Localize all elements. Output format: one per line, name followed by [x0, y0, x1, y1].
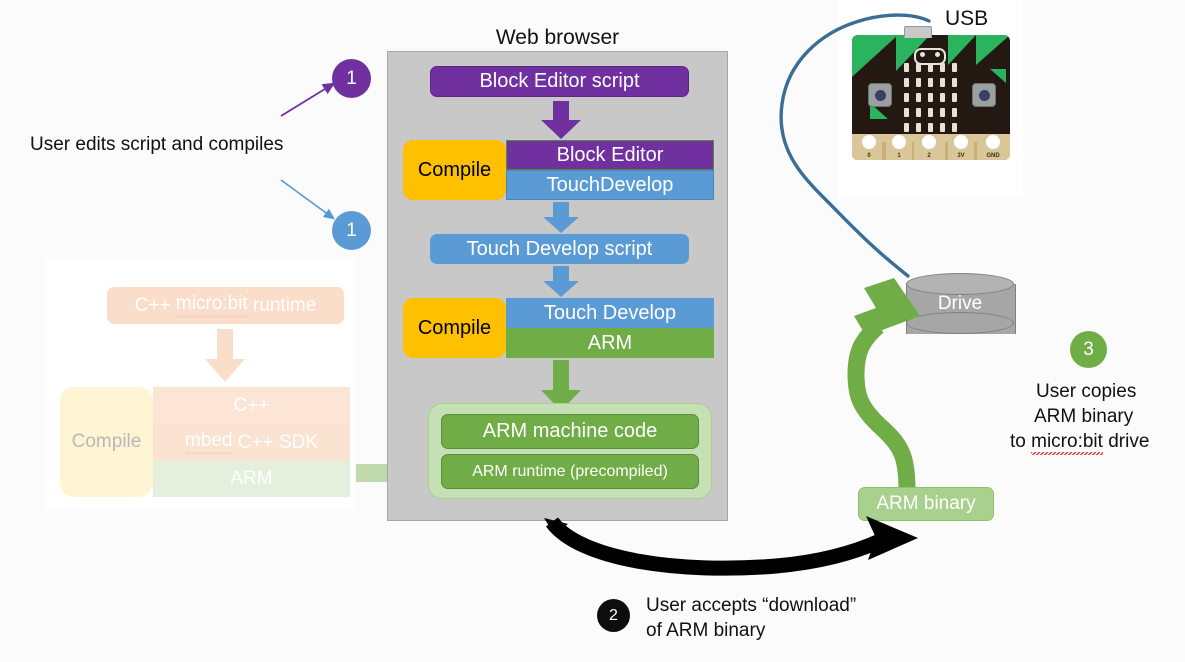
step-3-text-line-1: User copies — [1036, 379, 1136, 404]
step-3-badge: 3 — [1070, 331, 1107, 368]
arm-binary-label: ARM binary — [876, 493, 975, 515]
web-browser-title: Web browser — [387, 26, 728, 50]
compile-2-target-box: ARM — [506, 328, 714, 358]
board-green-triangle-6 — [990, 69, 1006, 83]
step-1-badge-purple-label: 1 — [346, 68, 357, 90]
legacy-row-mbed-misspelled: mbed — [185, 430, 233, 455]
compile-2-target-label: ARM — [588, 332, 632, 355]
board-green-triangle-1 — [852, 35, 898, 77]
touch-develop-down-arrow-icon-1 — [537, 202, 585, 234]
compile-block-1: Compile Block Editor TouchDevelop — [403, 140, 714, 200]
edge-pad-3v: 3V — [948, 134, 974, 160]
button-a-icon — [868, 83, 892, 107]
microbit-device-photo: 0 1 2 3V GND — [838, 0, 1023, 198]
block-editor-script-label: Block Editor script — [479, 70, 639, 93]
compile-1-source-label: Block Editor — [557, 144, 664, 167]
usb-port-icon — [904, 26, 932, 38]
edge-pad-1: 1 — [886, 134, 912, 160]
touch-develop-down-arrow-icon-2 — [537, 266, 585, 298]
compile-1-label-box: Compile — [403, 140, 506, 200]
step-3-text-line-3: to micro:bit drive — [1010, 429, 1149, 454]
usb-label: USB — [945, 7, 988, 31]
arm-runtime-label: ARM runtime (precompiled) — [472, 463, 668, 481]
cpp-runtime-label-tail: runtime — [248, 295, 317, 317]
step-2-badge-label: 2 — [609, 607, 618, 625]
compile-1-source-box: Block Editor — [506, 140, 714, 170]
edge-pad-0-label: 0 — [867, 152, 870, 160]
compile-1-target-box: TouchDevelop — [506, 170, 714, 200]
edge-pad-gnd-label: GND — [986, 152, 999, 160]
board-green-triangle-3 — [948, 35, 976, 65]
step-3-badge-label: 3 — [1083, 339, 1094, 361]
legacy-compile-label-box: Compile — [60, 387, 153, 497]
legacy-row-arm-label: ARM — [230, 468, 272, 490]
block-editor-script-box: Block Editor script — [430, 66, 689, 97]
step-3-misspelled-word: micro:bit — [1031, 431, 1103, 455]
edge-pad-2: 2 — [916, 134, 942, 160]
arm-runtime-box: ARM runtime (precompiled) — [441, 454, 699, 489]
cpp-runtime-label: C++ — [135, 295, 176, 317]
compile-2-source-box: Touch Develop — [506, 298, 714, 328]
legacy-row-mbed-tail: C++ SDK — [232, 432, 318, 454]
drive-top-ellipse — [906, 273, 1014, 295]
legacy-row-arm: ARM — [153, 461, 350, 497]
arm-binary-box: ARM binary — [858, 487, 994, 521]
cpp-runtime-misspelled-word: micro:bit — [176, 293, 248, 318]
edge-pad-0: 0 — [856, 134, 882, 160]
arm-machine-code-box: ARM machine code — [441, 414, 699, 449]
board-green-triangle-4 — [976, 35, 1010, 65]
drive-cylinder: Drive — [906, 273, 1014, 345]
step-1-badge-blue-label: 1 — [346, 220, 357, 242]
led-matrix — [904, 63, 958, 135]
legacy-row-cpp: C++ — [153, 387, 350, 424]
step-1-purple-connector-arrow-icon — [280, 78, 342, 118]
microbit-board: 0 1 2 3V GND — [852, 35, 1010, 160]
touch-develop-script-label: Touch Develop script — [467, 238, 653, 261]
step-1-blue-connector-arrow-icon — [280, 178, 342, 226]
step-2-text-line-1: User accepts “download” — [646, 593, 856, 618]
step-2-badge: 2 — [597, 599, 630, 632]
edge-pad-gnd: GND — [980, 134, 1006, 160]
step-2-text-line-2: of ARM binary — [646, 618, 765, 643]
diagram-canvas: C++ micro:bit runtime Compile C++ mbed C… — [0, 0, 1185, 662]
compile-2-label: Compile — [418, 317, 491, 340]
legacy-row-mbed: mbed C++ SDK — [153, 424, 350, 461]
legacy-panel-contents: C++ micro:bit runtime Compile C++ mbed C… — [45, 259, 355, 510]
button-b-icon — [972, 83, 996, 107]
edge-pad-2-label: 2 — [927, 152, 930, 160]
step-3-line-3-suffix: drive — [1103, 431, 1149, 452]
cpp-microbit-runtime-box: C++ micro:bit runtime — [107, 287, 344, 324]
compile-1-label: Compile — [418, 159, 491, 182]
block-editor-down-arrow-icon — [535, 101, 587, 140]
legacy-compile-block: Compile C++ mbed C++ SDK ARM — [60, 387, 350, 497]
drive-bottom-ellipse — [906, 312, 1014, 334]
compile-2-label-box: Compile — [403, 298, 506, 358]
step-1-text: User edits script and compiles — [30, 132, 283, 157]
edge-pad-1-label: 1 — [897, 152, 900, 160]
drive-label: Drive — [906, 293, 1014, 315]
step-3-line-3-prefix: to — [1010, 431, 1031, 452]
legacy-row-cpp-label: C++ — [234, 395, 270, 417]
compile-1-target-label: TouchDevelop — [547, 174, 674, 197]
edge-pad-3v-label: 3V — [957, 152, 964, 160]
arm-output-container: ARM machine code ARM runtime (precompile… — [428, 403, 712, 499]
compile-block-2: Compile Touch Develop ARM — [403, 298, 714, 358]
touch-develop-script-box: Touch Develop script — [430, 234, 689, 264]
compile-2-source-label: Touch Develop — [544, 302, 676, 325]
arm-machine-code-label: ARM machine code — [483, 420, 658, 443]
legacy-compile-label: Compile — [72, 431, 142, 453]
legacy-down-arrow-icon — [190, 329, 260, 384]
step-3-text-line-2: ARM binary — [1034, 404, 1133, 429]
